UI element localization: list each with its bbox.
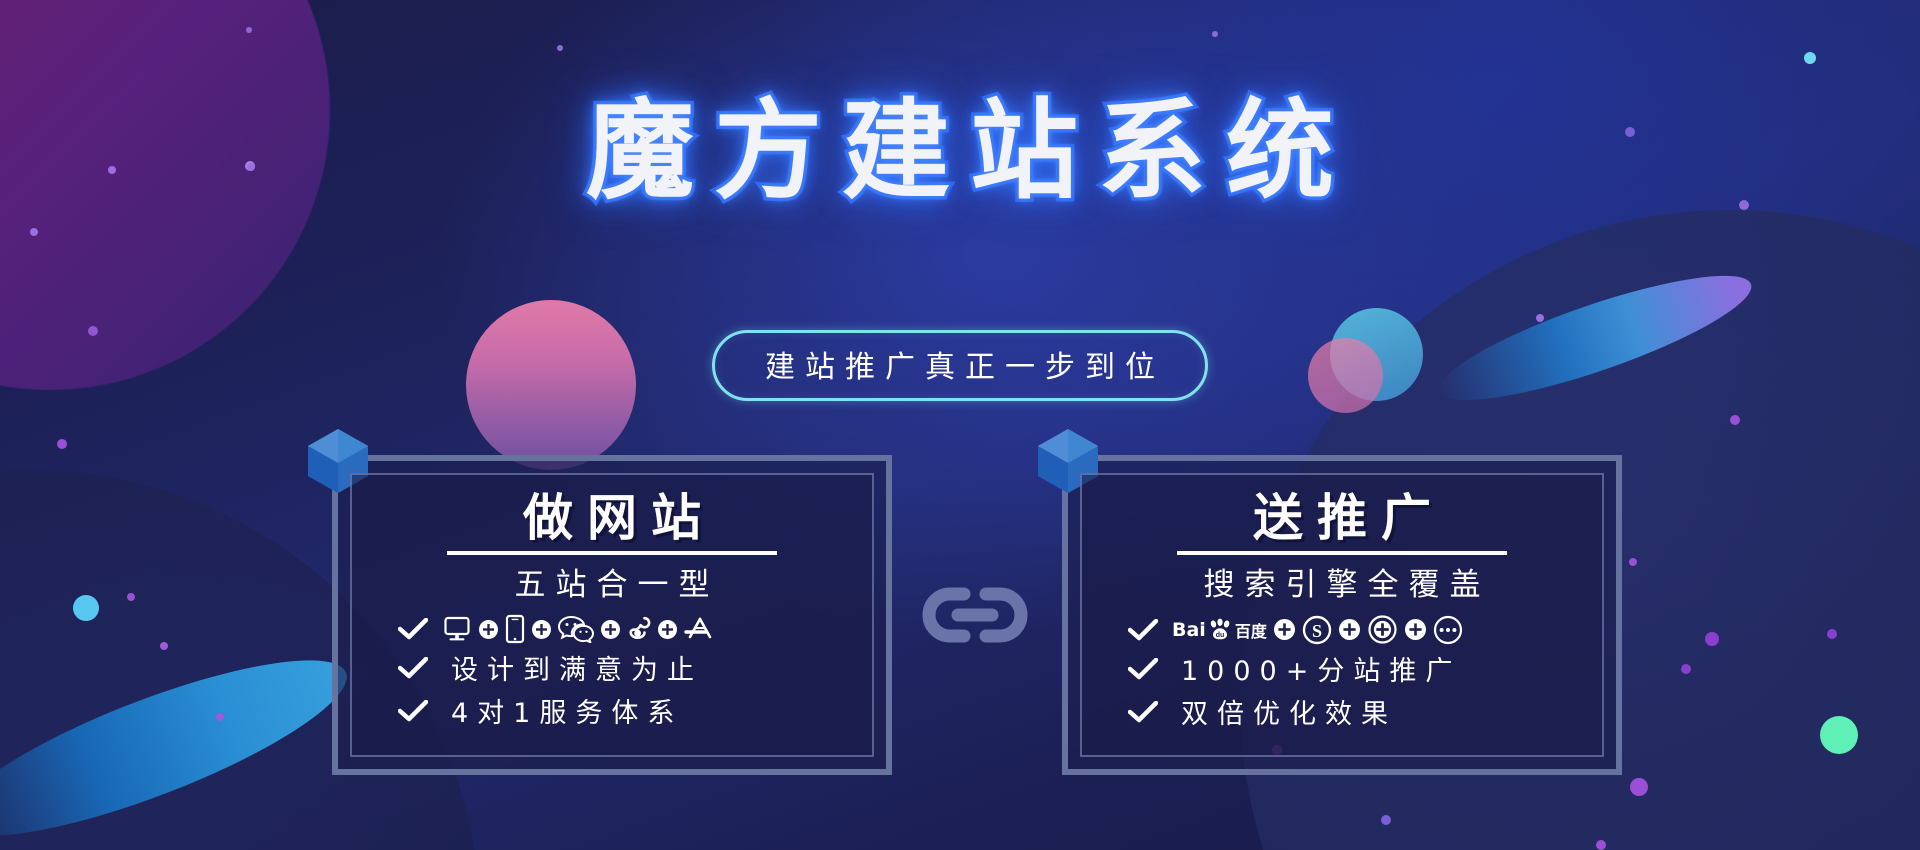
- more-ellipsis-icon: [1433, 615, 1463, 645]
- bg-dot: [1536, 314, 1544, 322]
- card-subtitle: 搜索引擎全覆盖: [1194, 559, 1491, 604]
- bg-dot: [73, 595, 99, 621]
- bg-dot: [1804, 52, 1816, 64]
- svg-text:du: du: [1216, 632, 1225, 639]
- feature-text: 4对1服务体系: [442, 691, 683, 730]
- feature-list: Bai du 百度: [1104, 610, 1580, 735]
- plus-circle-icon: [1274, 619, 1295, 640]
- channel-icon-row: [442, 614, 716, 644]
- card-inner: 送推广 搜索引擎全覆盖 Bai: [1080, 473, 1604, 757]
- app-store-icon: [684, 615, 716, 643]
- bg-dot: [1212, 31, 1218, 37]
- card-divider: [447, 551, 777, 555]
- bg-dot: [160, 642, 168, 650]
- plus-circle-icon: [658, 620, 677, 639]
- main-title: 魔方建站系统: [566, 92, 1354, 213]
- bg-dot: [557, 45, 563, 51]
- card-title: 做网站: [509, 491, 715, 545]
- bg-dot: [1596, 840, 1606, 850]
- bg-dot: [1681, 664, 1691, 674]
- check-icon: [1128, 658, 1158, 680]
- card-inner: 做网站 五站合一型: [350, 473, 874, 757]
- svg-text:S: S: [1312, 621, 1322, 641]
- bg-dot: [1730, 415, 1740, 425]
- weibo-icon: [627, 614, 651, 644]
- baidu-logo-icon: Bai du 百度: [1172, 618, 1267, 642]
- plus-circle-icon: [601, 620, 620, 639]
- sogou-logo-icon: S: [1302, 615, 1332, 645]
- card-make-website[interactable]: 做网站 五站合一型: [332, 455, 892, 775]
- card-subtitle: 五站合一型: [505, 559, 720, 604]
- card-free-promotion[interactable]: 送推广 搜索引擎全覆盖 Bai: [1062, 455, 1622, 775]
- baidu-wordmark: Bai: [1172, 619, 1206, 641]
- bg-dot: [216, 713, 224, 721]
- bg-dot: [246, 27, 252, 33]
- feature-row-design: 设计到满意为止: [374, 648, 850, 687]
- check-icon: [398, 700, 428, 722]
- feature-text: 设计到满意为止: [442, 648, 703, 687]
- bg-dot: [30, 228, 38, 236]
- feature-row-service: 4对1服务体系: [374, 691, 850, 730]
- plus-circle-icon: [532, 620, 551, 639]
- engine-icon-row: Bai du 百度: [1172, 614, 1463, 645]
- card-divider: [1177, 551, 1507, 555]
- bg-dot: [127, 593, 135, 601]
- bg-dot: [57, 439, 67, 449]
- mobile-phone-icon: [505, 614, 525, 644]
- chain-link-icon: [920, 580, 1030, 650]
- check-icon: [1128, 619, 1158, 641]
- bg-dot: [1820, 716, 1858, 754]
- bg-dot: [1629, 558, 1637, 566]
- plus-circle-icon: [1405, 619, 1426, 640]
- feature-row-double: 双倍优化效果: [1104, 692, 1580, 731]
- wechat-icon: [558, 615, 594, 643]
- feature-row-subsites: 1000+分站推广: [1104, 649, 1580, 688]
- feature-text: 双倍优化效果: [1172, 692, 1397, 731]
- check-icon: [1128, 701, 1158, 723]
- promo-banner: 魔方建站系统 建站推广真正一步到位 做网站 五站合一型: [0, 0, 1920, 850]
- bg-comet-bottom-left: [0, 628, 363, 850]
- plus-circle-icon: [1339, 619, 1360, 640]
- bg-dot: [1827, 629, 1837, 639]
- subtitle-wrap: 建站推广真正一步到位: [0, 330, 1920, 401]
- plus-circle-icon: [479, 620, 498, 639]
- check-icon: [398, 657, 428, 679]
- main-title-wrap: 魔方建站系统: [0, 92, 1920, 213]
- check-icon: [398, 618, 428, 640]
- feature-row-channels: [374, 614, 850, 644]
- baidu-paw-icon: du: [1208, 618, 1232, 642]
- card-title: 送推广: [1239, 491, 1445, 545]
- bg-dot: [1630, 778, 1648, 796]
- baidu-cn-label: 百度: [1235, 618, 1267, 642]
- desktop-monitor-icon: [442, 614, 472, 644]
- subtitle-pill: 建站推广真正一步到位: [712, 330, 1208, 401]
- feature-list: 设计到满意为止 4对1服务体系: [374, 610, 850, 734]
- bg-dot: [1705, 632, 1719, 646]
- bg-dot: [1381, 815, 1391, 825]
- 360-search-icon: [1367, 614, 1398, 645]
- feature-text: 1000+分站推广: [1172, 649, 1461, 688]
- feature-row-engines: Bai du 百度: [1104, 614, 1580, 645]
